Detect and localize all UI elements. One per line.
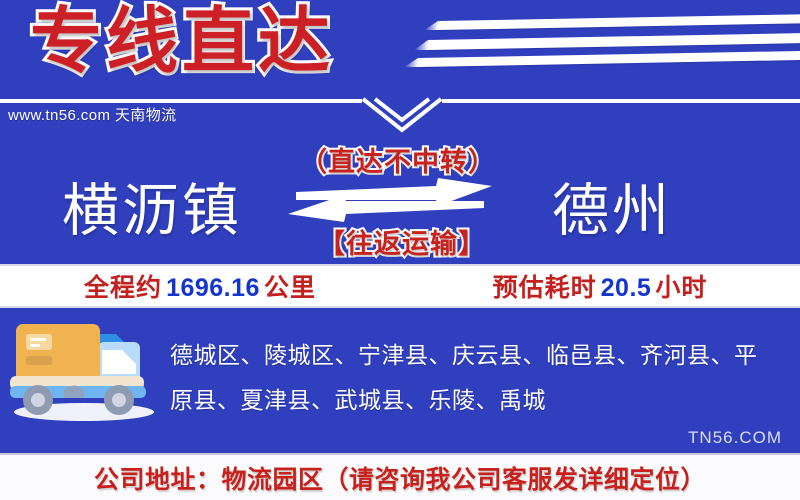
distance-label-prefix: 全程约: [84, 274, 162, 302]
watermark: TN56.COM: [688, 428, 782, 448]
distance-label-suffix: 公里: [264, 274, 316, 302]
speed-stripe-icon: [438, 14, 800, 30]
coverage-line: 德城区、陵城区、宁津县、庆云县、临邑县、齐河县、平: [170, 333, 775, 378]
duration-label-prefix: 预估耗时: [493, 274, 597, 302]
distance-info: 全程约1696.16公里: [0, 268, 400, 304]
page-title: 专线直达: [30, 2, 334, 83]
speed-stripe-icon: [418, 51, 800, 67]
footer-bar: 公司地址：物流园区（请咨询我公司客服发详细定位）: [0, 453, 800, 500]
speed-stripe-icon: [428, 33, 800, 50]
duration-label-suffix: 小时: [655, 274, 707, 302]
direct-no-transfer-badge: （直达不中转）: [300, 140, 496, 179]
divider-line-right: [442, 99, 800, 103]
round-trip-badge: 【往返运输】: [318, 222, 486, 261]
coverage-line: 原县、夏津县、武城县、乐陵、禹城: [170, 378, 775, 423]
coverage-area-list: 德城区、陵城区、宁津县、庆云县、临邑县、齐河县、平 原县、夏津县、武城县、乐陵、…: [170, 333, 775, 423]
duration-info: 预估耗时20.5小时: [400, 268, 800, 304]
destination-city: 德州: [552, 165, 672, 247]
divider-line-left: [0, 99, 362, 103]
logistics-route-poster: 专线直达 www.tn56.com 天南物流 横沥镇 德州 （直达不中转） 【往…: [0, 0, 800, 500]
delivery-truck-icon: [6, 312, 166, 427]
duration-value: 20.5: [601, 274, 652, 302]
double-chevron-down-icon: [355, 96, 450, 136]
origin-city: 横沥镇: [62, 165, 242, 247]
site-company-line: www.tn56.com 天南物流: [8, 104, 177, 125]
route-info-bar: 全程约1696.16公里 预估耗时20.5小时: [0, 264, 800, 308]
distance-value: 1696.16: [166, 274, 260, 302]
company-address-text: 公司地址：物流园区（请咨询我公司客服发详细定位）: [94, 460, 706, 496]
bidirectional-arrow-icon: [288, 178, 492, 223]
